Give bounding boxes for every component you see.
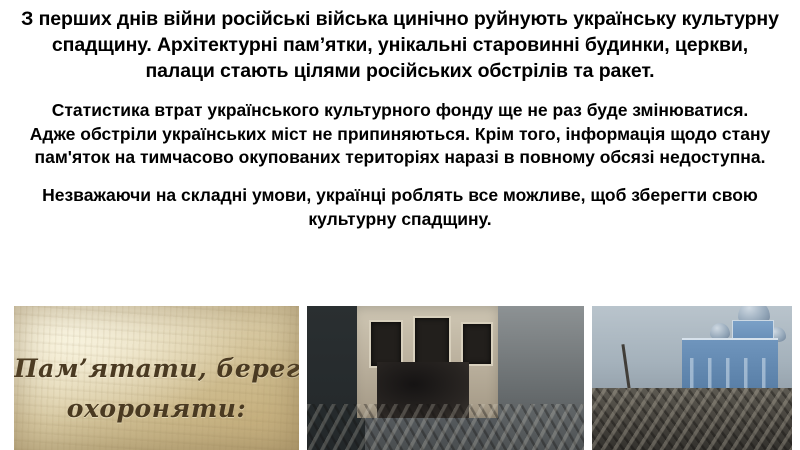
damaged-blue-church-photo — [592, 306, 792, 450]
destroyed-building-photo — [307, 306, 584, 450]
rubble-pile — [307, 404, 584, 450]
paragraph-1: З перших днів війни російські війська ци… — [0, 0, 800, 85]
image-strip: Пам’ятати, берегти, охороняти: — [0, 306, 800, 450]
window — [461, 322, 493, 366]
paragraph-2: Статистика втрат українського культурног… — [0, 85, 800, 170]
window — [369, 320, 403, 368]
parchment-background: Пам’ятати, берегти, охороняти: — [14, 306, 299, 450]
parchment-caption-line-1: Пам’ятати, берегти, — [14, 354, 299, 383]
destroyed-building-scene — [307, 306, 584, 450]
slide-root: З перших днів війни російські війська ци… — [0, 0, 800, 450]
debris-field — [592, 388, 792, 450]
parchment-caption-line-2: охороняти: — [14, 394, 299, 423]
parchment-calligraphy-photo: Пам’ятати, берегти, охороняти: — [14, 306, 299, 450]
church-scene — [592, 306, 792, 450]
paragraph-3: Незважаючи на складні умови, українці ро… — [0, 170, 800, 232]
